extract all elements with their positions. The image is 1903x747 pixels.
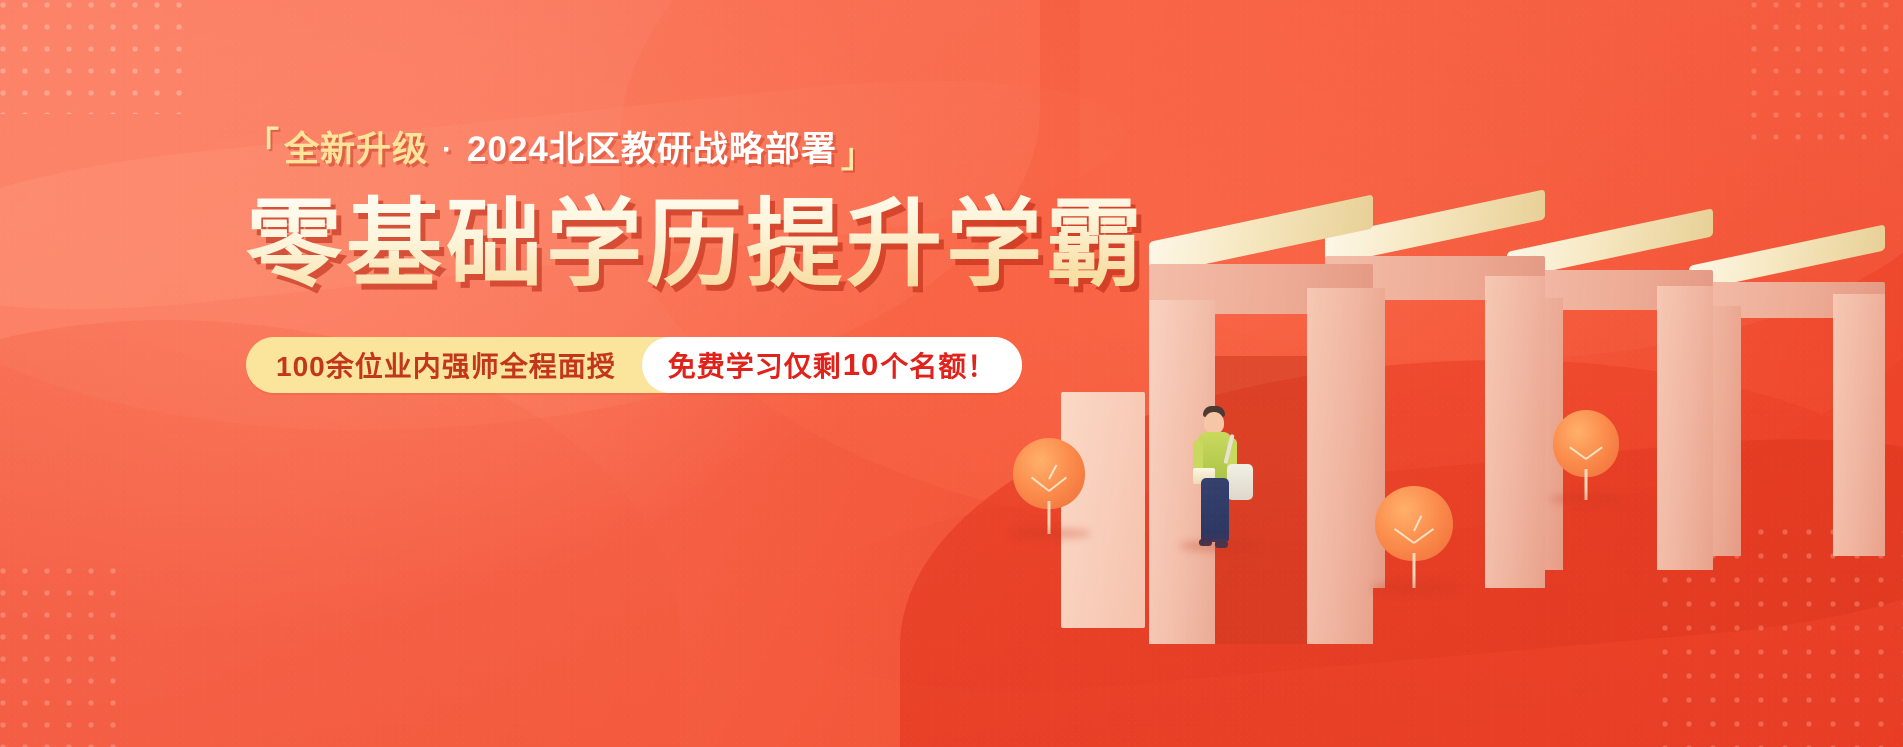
tree-left-shadow bbox=[1009, 528, 1091, 539]
tree-crown bbox=[1013, 438, 1085, 509]
banner-text-block: 「 全新升级 · 2024北区教研战略部署 」 零基础学历提升学霸班 100余位… bbox=[246, 132, 1146, 393]
shoulder-bag bbox=[1227, 464, 1253, 500]
tree-right-shadow bbox=[1549, 494, 1623, 504]
legs bbox=[1201, 478, 1229, 542]
subtitle-separator: · bbox=[432, 135, 463, 165]
banner-badge-row: 100余位业内强师全程面授 免费学习仅剩10个名额！ bbox=[246, 337, 1022, 393]
tree-crown bbox=[1553, 410, 1619, 477]
banner-subtitle: 「 全新升级 · 2024北区教研战略部署 」 bbox=[246, 132, 1146, 167]
badge-seats-suffix: 个名额！ bbox=[880, 345, 996, 385]
banner-headline: 零基础学历提升学霸班 bbox=[246, 193, 1146, 297]
figure-floor-shadow bbox=[1179, 540, 1259, 552]
illustration-group bbox=[1083, 0, 1903, 747]
head bbox=[1204, 412, 1224, 434]
subtitle-rest: 2024北区教研战略部署 bbox=[467, 132, 837, 167]
book-leg-right bbox=[1307, 288, 1373, 644]
badge-seats-remaining: 免费学习仅剩10个名额！ bbox=[642, 337, 1023, 393]
promo-banner: 「 全新升级 · 2024北区教研战略部署 」 零基础学历提升学霸班 100余位… bbox=[0, 0, 1903, 747]
book-leg-right bbox=[1657, 286, 1713, 570]
badge-seats-prefix: 免费学习仅剩 bbox=[668, 345, 842, 385]
book-leg-right bbox=[1833, 294, 1885, 556]
tree-right bbox=[1553, 410, 1619, 500]
book-gate-fourth bbox=[1683, 248, 1883, 548]
dot-pattern-top-left bbox=[0, 0, 192, 114]
student-figure bbox=[1187, 406, 1257, 546]
tree-middle-shadow bbox=[1371, 582, 1459, 594]
tree-middle bbox=[1375, 486, 1453, 588]
subtitle-highlight: 全新升级 bbox=[284, 132, 428, 167]
close-bracket-icon: 」 bbox=[841, 139, 875, 172]
tree-left bbox=[1013, 438, 1085, 534]
badge-teachers-label: 100余位业内强师全程面授 bbox=[276, 345, 642, 385]
dot-pattern-bottom-left bbox=[0, 560, 132, 747]
badge-seats-number: 10 bbox=[842, 347, 880, 383]
open-bracket-icon: 「 bbox=[246, 127, 280, 160]
tree-crown bbox=[1375, 486, 1453, 561]
book-leg-right bbox=[1485, 276, 1545, 588]
